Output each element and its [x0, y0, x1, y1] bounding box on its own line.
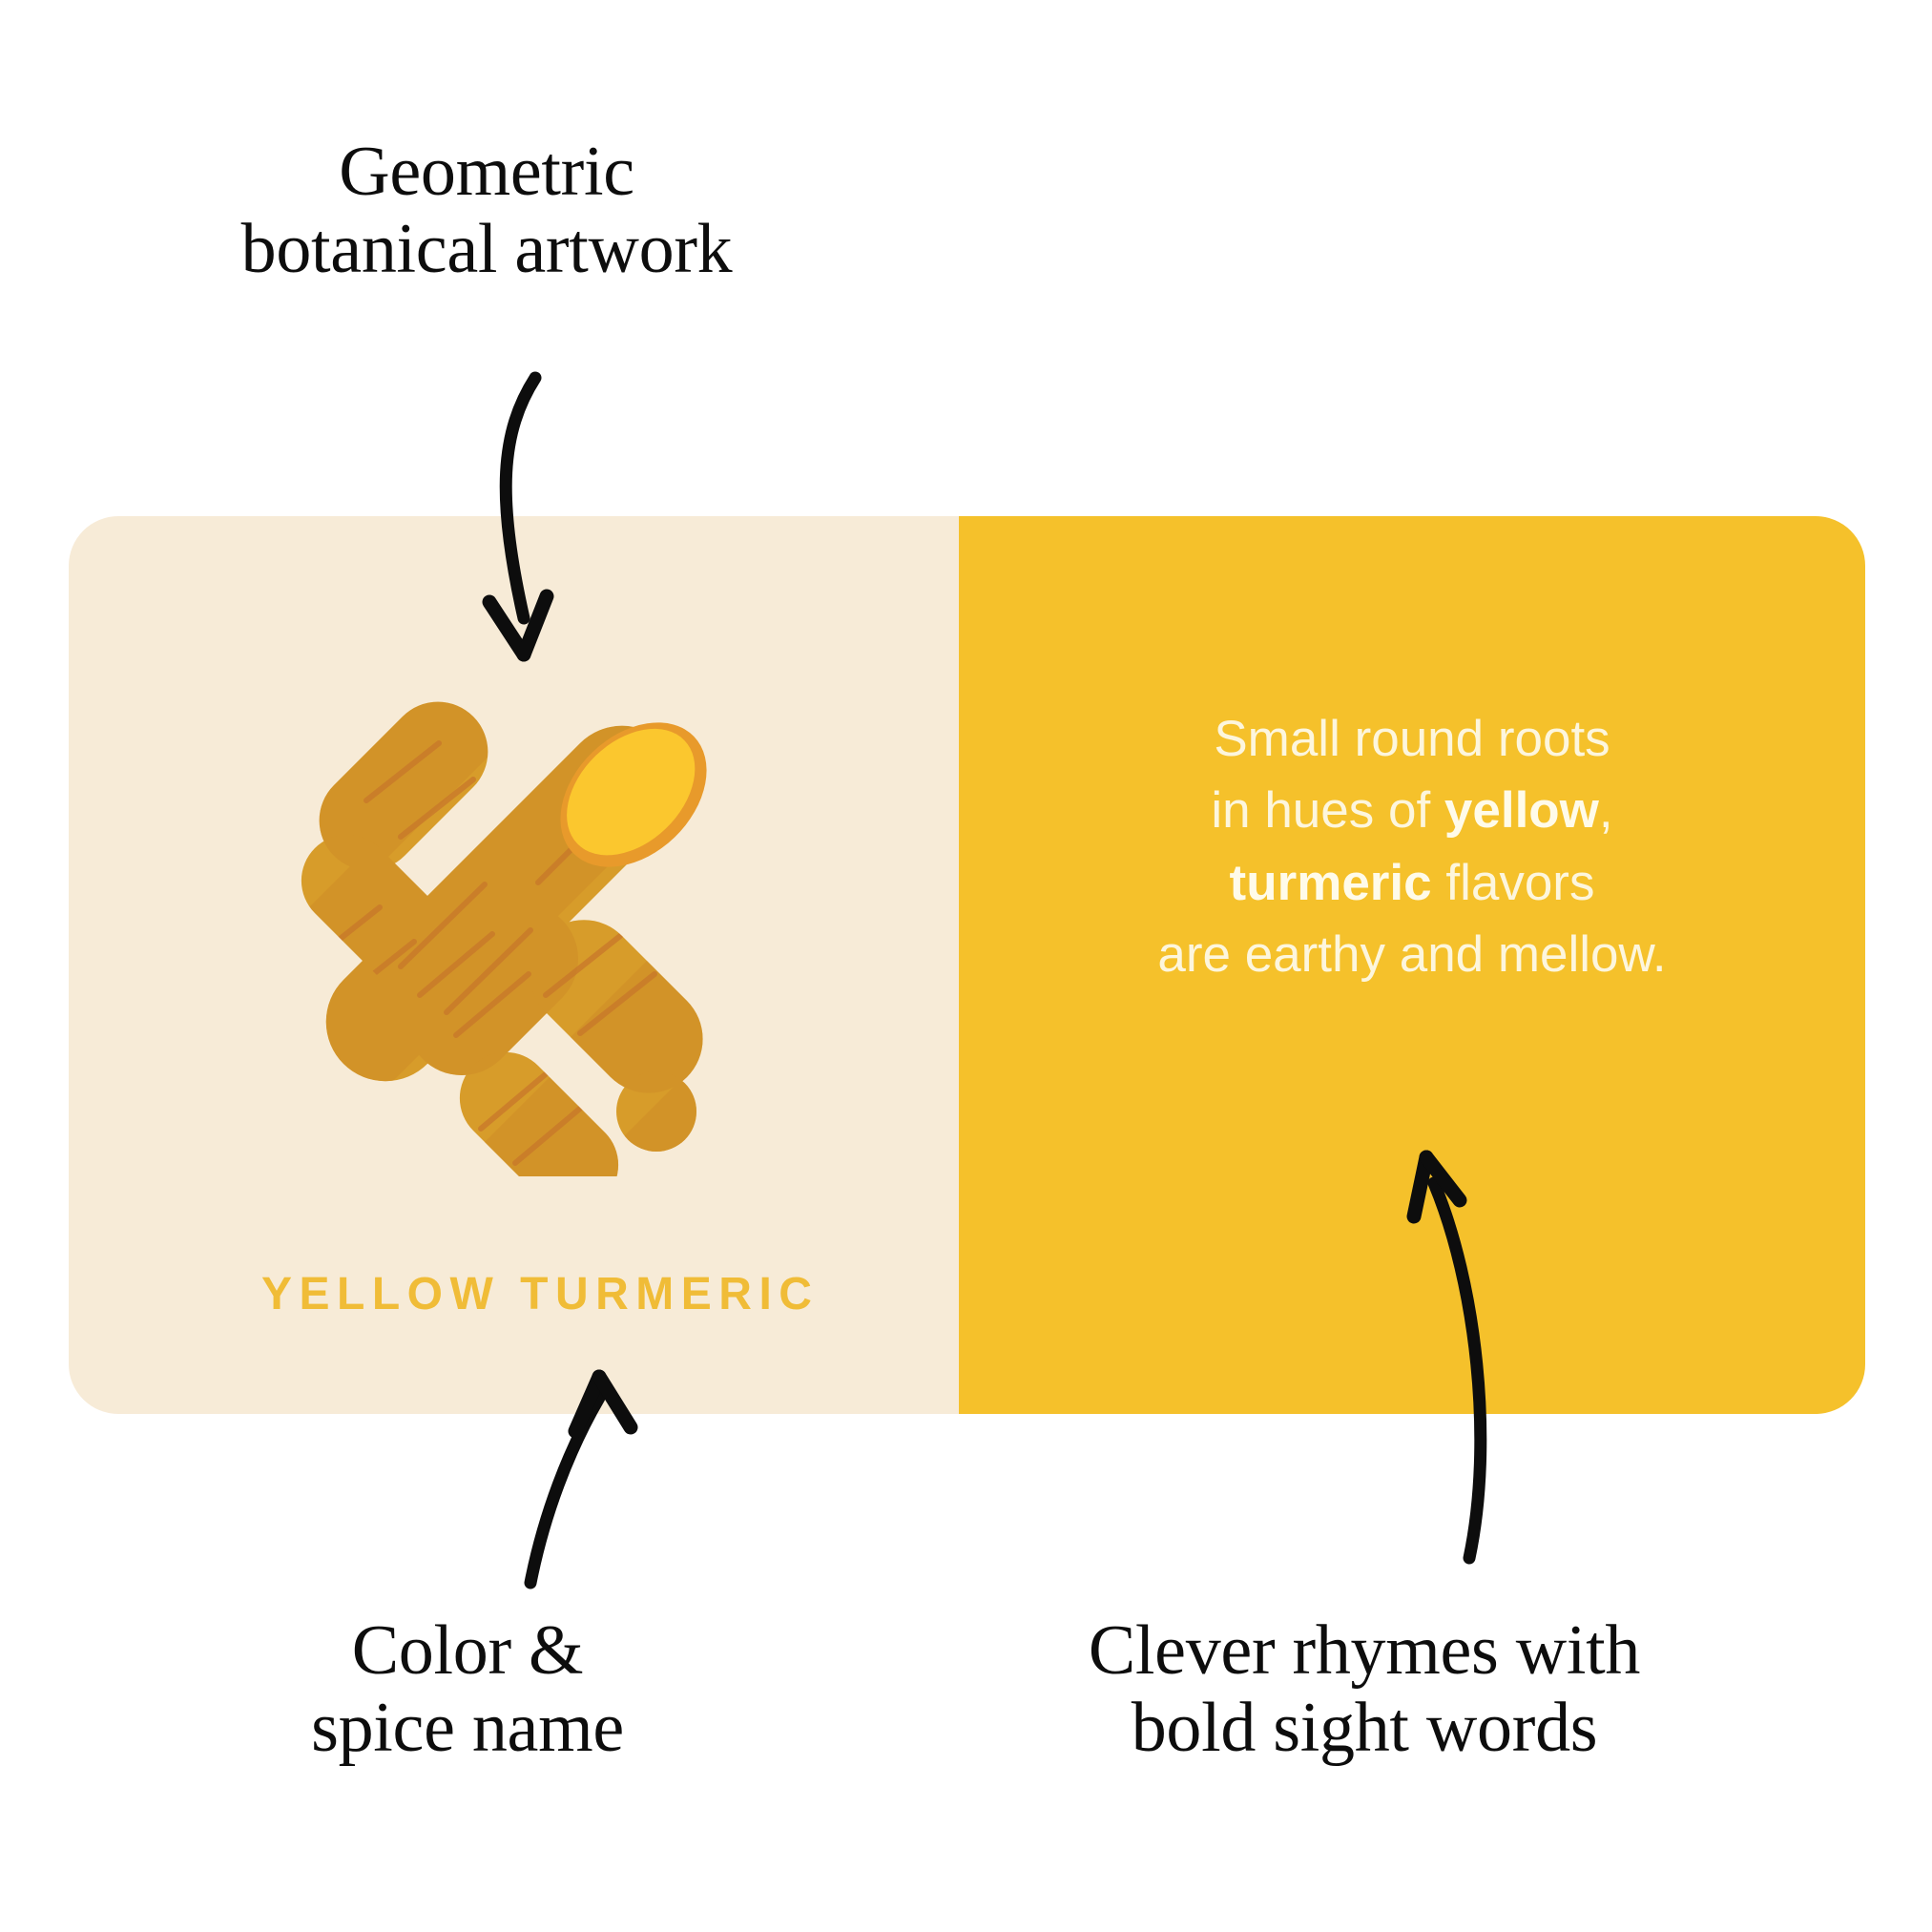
callout-rhymes-label: Clever rhymes with bold sight words — [935, 1612, 1794, 1768]
rhyme-line: turmeric flavors — [1002, 847, 1822, 919]
card-right-panel: Small round rootsin hues of yellow,turme… — [959, 516, 1865, 1414]
rhyme-text-run: are earthy and mellow. — [1157, 926, 1666, 983]
turmeric-root-icon — [260, 680, 737, 1176]
annotated-flashcard-figure: YELLOW TURMERIC Small round rootsin hues… — [0, 0, 1932, 1932]
rhyme-line: are earthy and mellow. — [1002, 919, 1822, 990]
flashcard: YELLOW TURMERIC Small round rootsin hues… — [69, 516, 1865, 1414]
callout-artwork-label: Geometric botanical artwork — [86, 134, 887, 289]
rhyme-text-run: Small round roots — [1214, 711, 1610, 767]
spice-name-label: YELLOW TURMERIC — [261, 1268, 819, 1320]
rhyme-text-run: flavors — [1432, 855, 1595, 911]
rhyme-text-run: , — [1599, 782, 1613, 839]
card-left-panel: YELLOW TURMERIC — [69, 516, 959, 1414]
rhyme-line: in hues of yellow, — [1002, 775, 1822, 846]
sight-word: yellow — [1444, 782, 1599, 839]
callout-spice-name-label: Color & spice name — [162, 1612, 773, 1768]
rhyme-text-run: in hues of — [1211, 782, 1444, 839]
rhyme-line: Small round roots — [1002, 703, 1822, 775]
sight-word: turmeric — [1230, 855, 1432, 911]
rhyme-text: Small round rootsin hues of yellow,turme… — [1002, 703, 1822, 990]
